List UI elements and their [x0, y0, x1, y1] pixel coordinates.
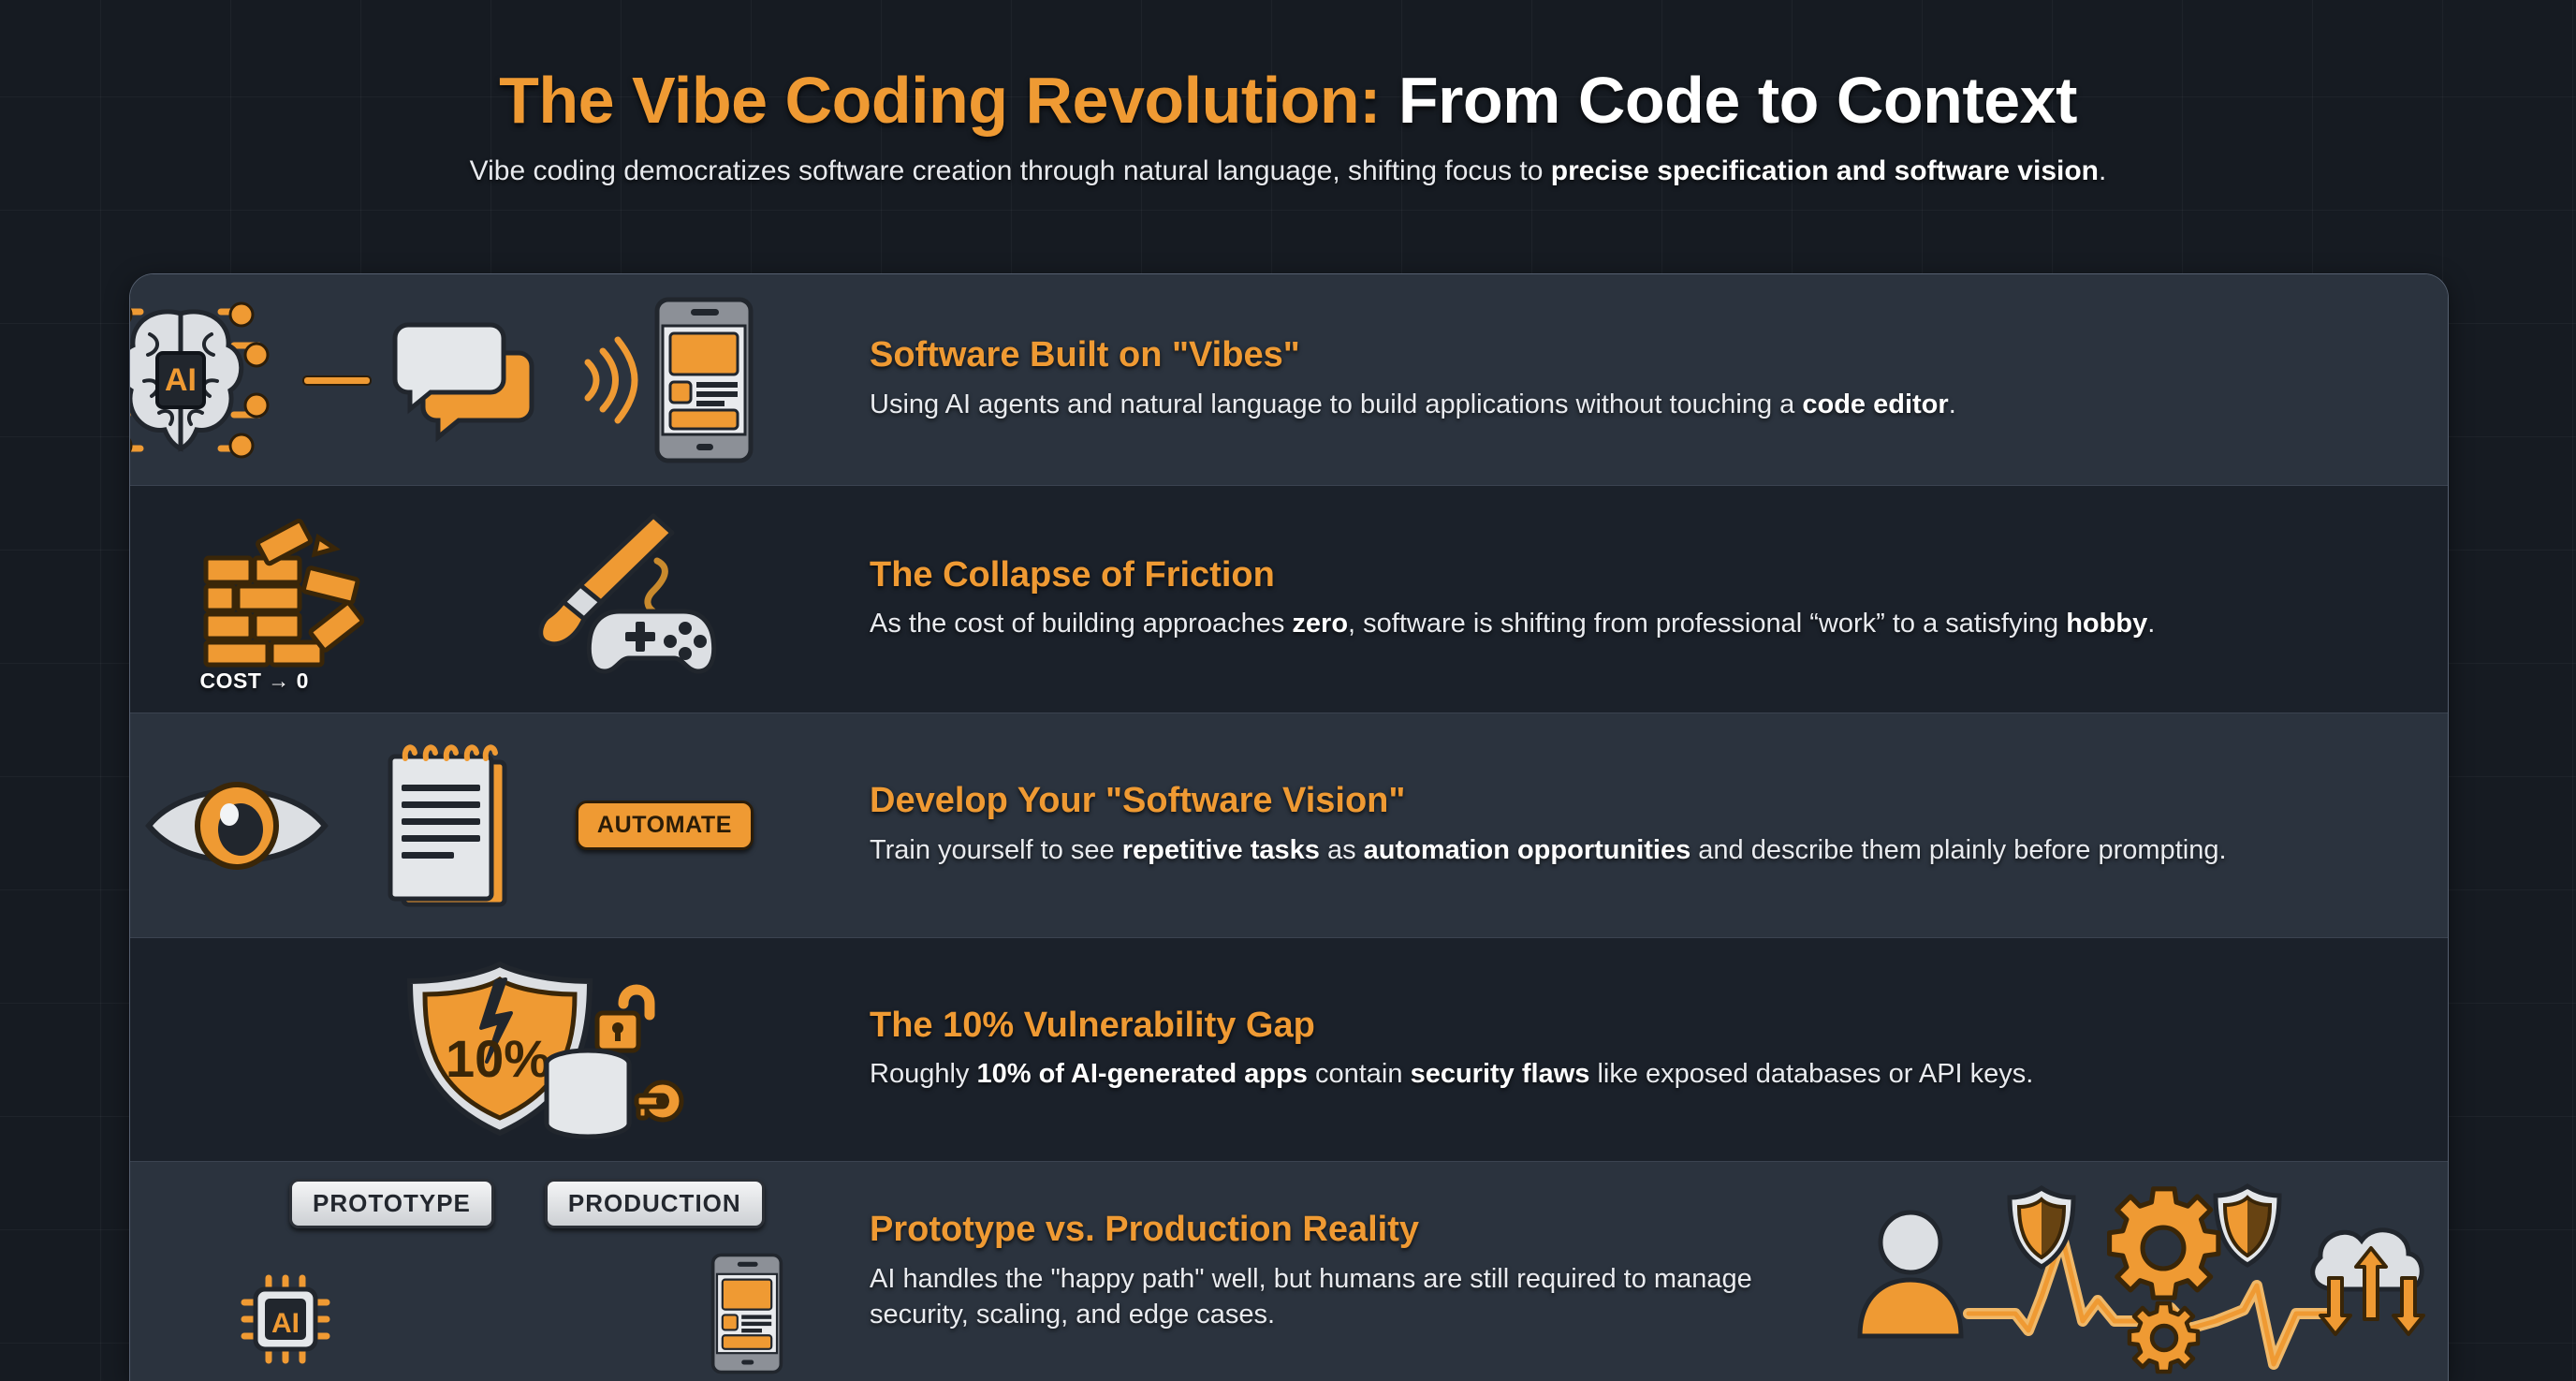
- page-title: The Vibe Coding Revolution: From Code to…: [0, 0, 2576, 133]
- row-description: Train yourself to see repetitive tasks a…: [870, 832, 2255, 869]
- notepad-icon: [383, 742, 523, 910]
- page-subtitle: Vibe coding democratizes software creati…: [0, 133, 2576, 187]
- row-4-icon-group: 10%: [130, 938, 870, 1161]
- list-item: PROTOTYPE PRODUCTION AI: [130, 1162, 2448, 1381]
- list-item: 10%: [130, 938, 2448, 1162]
- cost-label: COST → 0: [200, 668, 309, 694]
- automate-badge[interactable]: AUTOMATE: [576, 801, 754, 850]
- row-desc-part-3: like exposed databases or API keys.: [1589, 1059, 2033, 1089]
- row-desc-part-1: Train yourself to see: [870, 835, 1122, 865]
- ai-microchip-icon: AI: [241, 1274, 330, 1364]
- row-5-icon-group: PROTOTYPE PRODUCTION AI: [130, 1162, 870, 1381]
- paintbrush-gamepad-icon: [517, 510, 718, 674]
- page-title-accent: The Vibe Coding Revolution:: [499, 64, 1381, 137]
- row-description: As the cost of building approaches zero,…: [870, 606, 2255, 642]
- gear-icon: [2110, 1189, 2218, 1298]
- chat-bubbles-icon: [395, 319, 554, 441]
- content-card: AI: [129, 273, 2449, 1381]
- row-description: Roughly 10% of AI-generated apps contain…: [870, 1056, 2255, 1093]
- row-5-production-art: [1841, 1181, 2422, 1379]
- row-3-text: Develop Your "Software Vision" Train you…: [870, 782, 2448, 869]
- row-title: Software Built on "Vibes": [870, 336, 2410, 375]
- subtitle-text-post: .: [2099, 155, 2106, 186]
- cloud-sync-icon: [2313, 1230, 2423, 1334]
- row-desc-bold-1: 10% of AI-generated apps: [976, 1059, 1307, 1089]
- row-desc-part-3: and describe them plainly before prompti…: [1690, 835, 2226, 865]
- eye-icon: [143, 770, 330, 882]
- mobile-phone-icon: [655, 298, 753, 463]
- prototype-badge[interactable]: PROTOTYPE: [289, 1179, 494, 1228]
- list-item: AI: [130, 274, 2448, 486]
- list-item: COST → 0: [130, 486, 2448, 713]
- row-1-text: Software Built on "Vibes" Using AI agent…: [870, 336, 2448, 423]
- list-item: AUTOMATE Develop Your "Software Vision" …: [130, 713, 2448, 938]
- ai-brain-icon: AI: [129, 291, 279, 469]
- gear-icon: [2130, 1303, 2198, 1372]
- row-desc-part-2: , software is shifting from professional…: [1348, 609, 2066, 639]
- row-desc-bold-1: code editor: [1802, 389, 1948, 419]
- row-desc-part-1: As the cost of building approaches: [870, 609, 1292, 639]
- ai-chip-label: AI: [271, 1308, 300, 1339]
- subtitle-text-pre: Vibe coding democratizes software creati…: [470, 155, 1551, 186]
- row-title: The 10% Vulnerability Gap: [870, 1006, 2410, 1046]
- subtitle-text-bold: precise specification and software visio…: [1551, 155, 2099, 186]
- cracked-shield-icon: 10%: [395, 961, 695, 1139]
- row-desc-part-2: as: [1320, 835, 1364, 865]
- row-title: The Collapse of Friction: [870, 556, 2410, 595]
- production-badge[interactable]: PRODUCTION: [545, 1179, 765, 1228]
- row-4-text: The 10% Vulnerability Gap Roughly 10% of…: [870, 1006, 2448, 1094]
- row-3-icon-group: AUTOMATE: [130, 713, 870, 937]
- row-2-icon-group: COST → 0: [130, 486, 870, 713]
- shield-icon: [2216, 1186, 2279, 1265]
- row-desc-bold-2: hobby: [2066, 609, 2147, 639]
- row-desc-bold-1: zero: [1292, 609, 1348, 639]
- row-1-icon-group: AI: [130, 274, 870, 485]
- row-description: Using AI agents and natural language to …: [870, 387, 2255, 423]
- infographic-page: The Vibe Coding Revolution: From Code to…: [0, 0, 2576, 1381]
- sound-waves-icon: [578, 329, 631, 432]
- row-5-badge-group: PROTOTYPE PRODUCTION: [289, 1179, 765, 1228]
- row-desc-bold-2: automation opportunities: [1364, 835, 1691, 865]
- row-desc-bold-1: repetitive tasks: [1122, 835, 1320, 865]
- row-title: Develop Your "Software Vision": [870, 782, 2410, 821]
- crumbling-wall-icon: COST → 0: [198, 517, 376, 667]
- ai-chip-label: AI: [165, 362, 197, 398]
- row-desc-part-2: .: [1949, 389, 1956, 419]
- row-description: AI handles the "happy path" well, but hu…: [870, 1261, 1815, 1334]
- row-desc-part-1: Roughly: [870, 1059, 976, 1089]
- connector-line-icon: [303, 374, 371, 387]
- row-2-text: The Collapse of Friction As the cost of …: [870, 556, 2448, 643]
- mobile-phone-icon: [710, 1254, 783, 1374]
- row-desc-bold-2: security flaws: [1411, 1059, 1590, 1089]
- row-desc-part-3: .: [2147, 609, 2155, 639]
- shield-percentage-label: 10%: [446, 1029, 550, 1088]
- header: The Vibe Coding Revolution: From Code to…: [0, 0, 2576, 187]
- row-desc-part-1: Using AI agents and natural language to …: [870, 389, 1802, 419]
- row-desc-part-2: contain: [1308, 1059, 1411, 1089]
- page-title-plain: From Code to Context: [1381, 64, 2077, 137]
